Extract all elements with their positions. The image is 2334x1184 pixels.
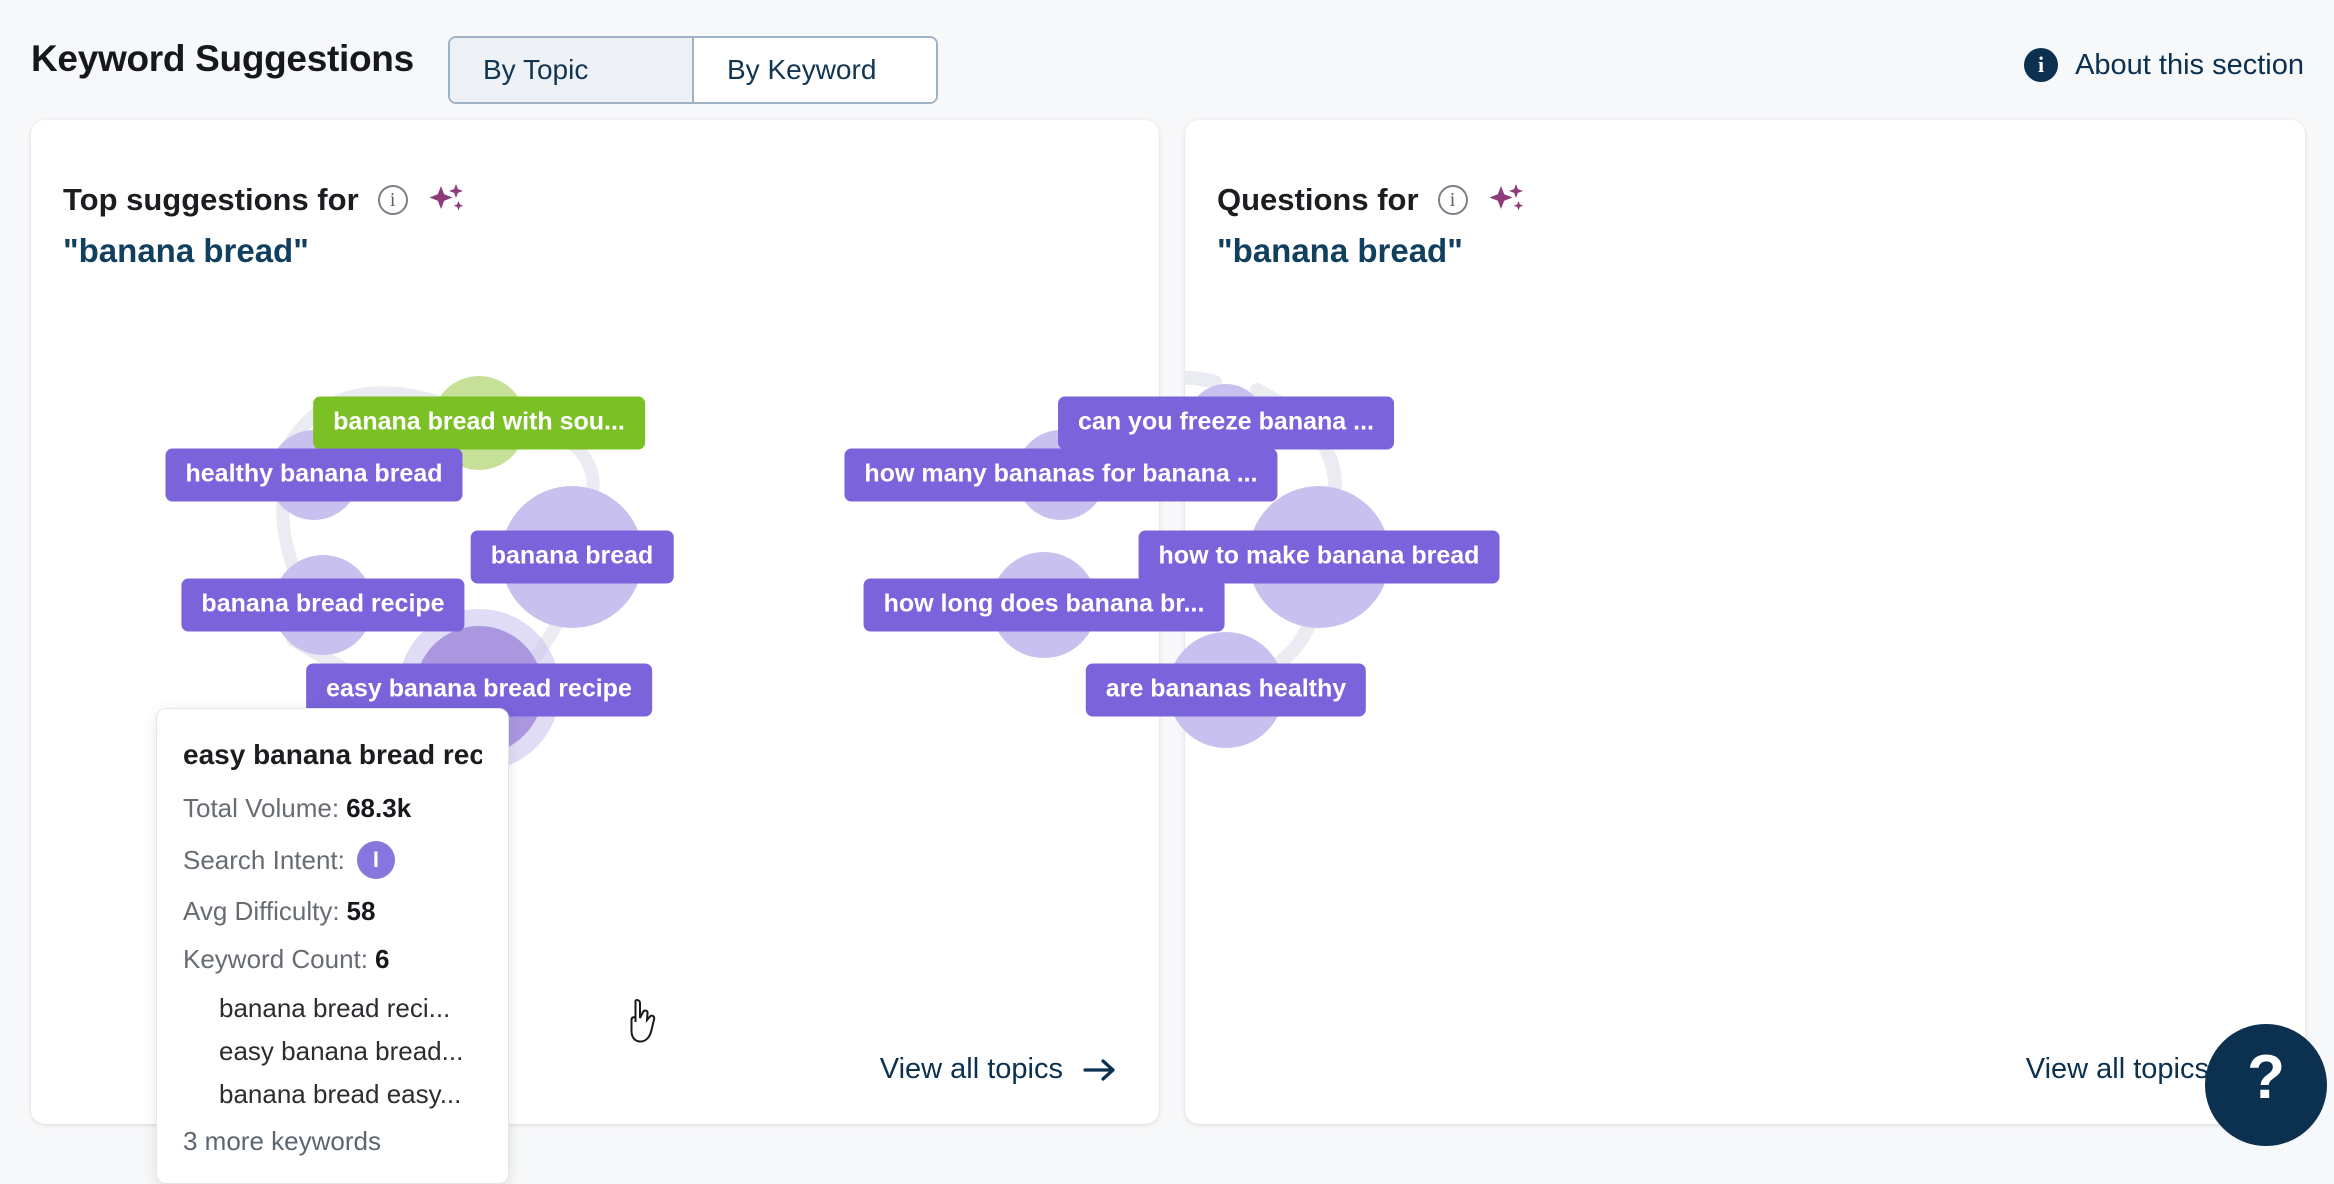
bubble-label[interactable]: how many bananas for banana ...	[844, 449, 1277, 502]
view-all-topics-link[interactable]: View all topics	[880, 1053, 1117, 1086]
list-item: easy banana bread...	[219, 1036, 482, 1067]
keyword-tooltip-card: easy banana bread rec... Total Volume: 6…	[156, 708, 509, 1184]
bubble-label[interactable]: how long does banana br...	[864, 579, 1225, 632]
tab-by-keyword[interactable]: By Keyword	[694, 38, 936, 102]
tooltip-row-label: Total Volume:	[183, 793, 339, 824]
bubble-label[interactable]: banana bread with sou...	[313, 397, 645, 450]
help-button[interactable]: ?	[2205, 1024, 2327, 1146]
tooltip-keyword-count-row: Keyword Count: 6	[183, 944, 482, 975]
bubble-label[interactable]: are bananas healthy	[1086, 664, 1366, 717]
info-icon: i	[2024, 48, 2058, 82]
mouse-cursor-pointer	[627, 998, 663, 1044]
tooltip-title: easy banana bread rec...	[183, 739, 482, 771]
tab-by-topic[interactable]: By Topic	[450, 38, 694, 102]
tooltip-row-label: Keyword Count:	[183, 944, 368, 975]
tooltip-row-value: 6	[375, 944, 389, 975]
graph-connections	[1185, 120, 2305, 1124]
bubble-label[interactable]: banana bread recipe	[181, 579, 464, 632]
about-this-section-link[interactable]: i About this section	[2024, 48, 2304, 82]
list-item: banana bread easy...	[219, 1079, 482, 1110]
tooltip-avg-difficulty-row: Avg Difficulty: 58	[183, 896, 482, 927]
tooltip-row-label: Avg Difficulty:	[183, 896, 340, 927]
tooltip-more-keywords: 3 more keywords	[183, 1126, 482, 1157]
view-all-topics-label: View all topics	[880, 1053, 1063, 1086]
tooltip-row-value: 58	[347, 896, 376, 927]
tooltip-row-value: 68.3k	[346, 793, 411, 824]
tooltip-row-label: Search Intent:	[183, 845, 345, 876]
tooltip-total-volume-row: Total Volume: 68.3k	[183, 793, 482, 824]
question-bubble-graph: can you freeze banana ... how many banan…	[1185, 120, 2305, 1124]
page-title: Keyword Suggestions	[31, 38, 414, 80]
list-item: banana bread reci...	[219, 993, 482, 1024]
bubble-label[interactable]: banana bread	[471, 531, 674, 584]
bubble-label[interactable]: can you freeze banana ...	[1058, 397, 1394, 450]
bubble-label[interactable]: how to make banana bread	[1139, 531, 1500, 584]
view-mode-toggle[interactable]: By Topic By Keyword	[448, 36, 938, 104]
tooltip-keyword-list: banana bread reci... easy banana bread..…	[219, 993, 482, 1110]
about-this-section-label: About this section	[2075, 49, 2304, 82]
tooltip-search-intent-row: Search Intent: I	[183, 841, 482, 879]
page-header: Keyword Suggestions By Topic By Keyword …	[0, 0, 2334, 120]
questions-card: Questions for i "banana bread"	[1185, 120, 2305, 1124]
bubble-label[interactable]: healthy banana bread	[165, 449, 462, 502]
arrow-right-icon	[1083, 1057, 1117, 1083]
view-all-topics-label: View all topics	[2026, 1053, 2209, 1086]
search-intent-badge: I	[357, 841, 395, 879]
